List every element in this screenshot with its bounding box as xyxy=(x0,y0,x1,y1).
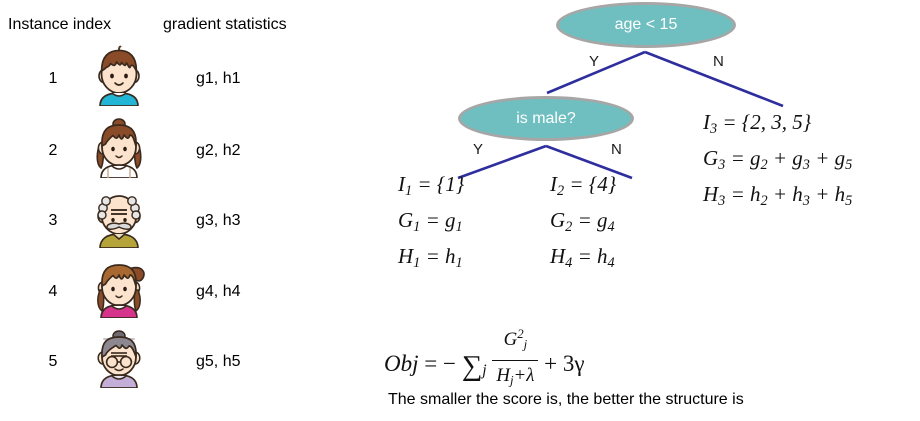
caption-text: The smaller the score is, the better the… xyxy=(388,391,744,409)
summation-icon: ∑ xyxy=(462,352,483,381)
leaf-block-1: I1 = {1} G1 = g1 H1 = h1 xyxy=(398,170,464,278)
leaf1-G: G1 = g1 xyxy=(398,206,464,242)
tree-node-root[interactable]: age < 15 xyxy=(556,2,736,48)
leaf1-H: H1 = h1 xyxy=(398,242,464,278)
leaf2-H: H4 = h4 xyxy=(550,242,616,278)
leaf3-I: I3 = {2, 3, 5} xyxy=(703,108,852,144)
slide-canvas: Instance index gradient statistics 1 g1,… xyxy=(0,0,920,421)
objective-plus-term: + 3γ xyxy=(544,351,584,376)
objective-numerator: G2j xyxy=(492,320,538,360)
edge-label-is-male-yes: Y xyxy=(473,141,483,158)
leaf2-I: I2 = {4} xyxy=(550,170,616,206)
tree-node-root-label: age < 15 xyxy=(615,16,678,34)
leaf-block-2: I2 = {4} G2 = g4 H4 = h4 xyxy=(550,170,616,278)
leaf3-G: G3 = g2 + g3 + g5 xyxy=(703,144,852,180)
objective-minus: − xyxy=(443,351,456,376)
objective-fraction: G2j Hj+λ xyxy=(492,320,538,395)
objective-denominator: Hj+λ xyxy=(492,360,538,396)
edge-label-root-yes: Y xyxy=(589,53,599,70)
objective-sum-sub: j xyxy=(482,362,486,379)
objective-numerator-sym: G xyxy=(504,329,518,350)
edge-ismale-yes xyxy=(458,146,546,178)
leaf2-G: G2 = g4 xyxy=(550,206,616,242)
objective-denominator-sym: H xyxy=(496,365,510,386)
objective-equals: = xyxy=(424,351,437,376)
leaf1-I: I1 = {1} xyxy=(398,170,464,206)
objective-numerator-sub: j xyxy=(524,338,528,352)
edge-label-is-male-no: N xyxy=(611,141,622,158)
tree-node-is-male[interactable]: is male? xyxy=(458,96,634,141)
objective-denominator-tail: +λ xyxy=(514,365,535,386)
leaf3-H: H3 = h2 + h3 + h5 xyxy=(703,180,852,216)
edge-label-root-no: N xyxy=(713,53,724,70)
objective-lhs: Obj xyxy=(384,351,419,376)
objective-formula: Obj = − ∑j G2j Hj+λ + 3γ xyxy=(384,320,585,395)
tree-node-is-male-label: is male? xyxy=(516,110,576,128)
leaf-block-3: I3 = {2, 3, 5} G3 = g2 + g3 + g5 H3 = h2… xyxy=(703,108,852,216)
